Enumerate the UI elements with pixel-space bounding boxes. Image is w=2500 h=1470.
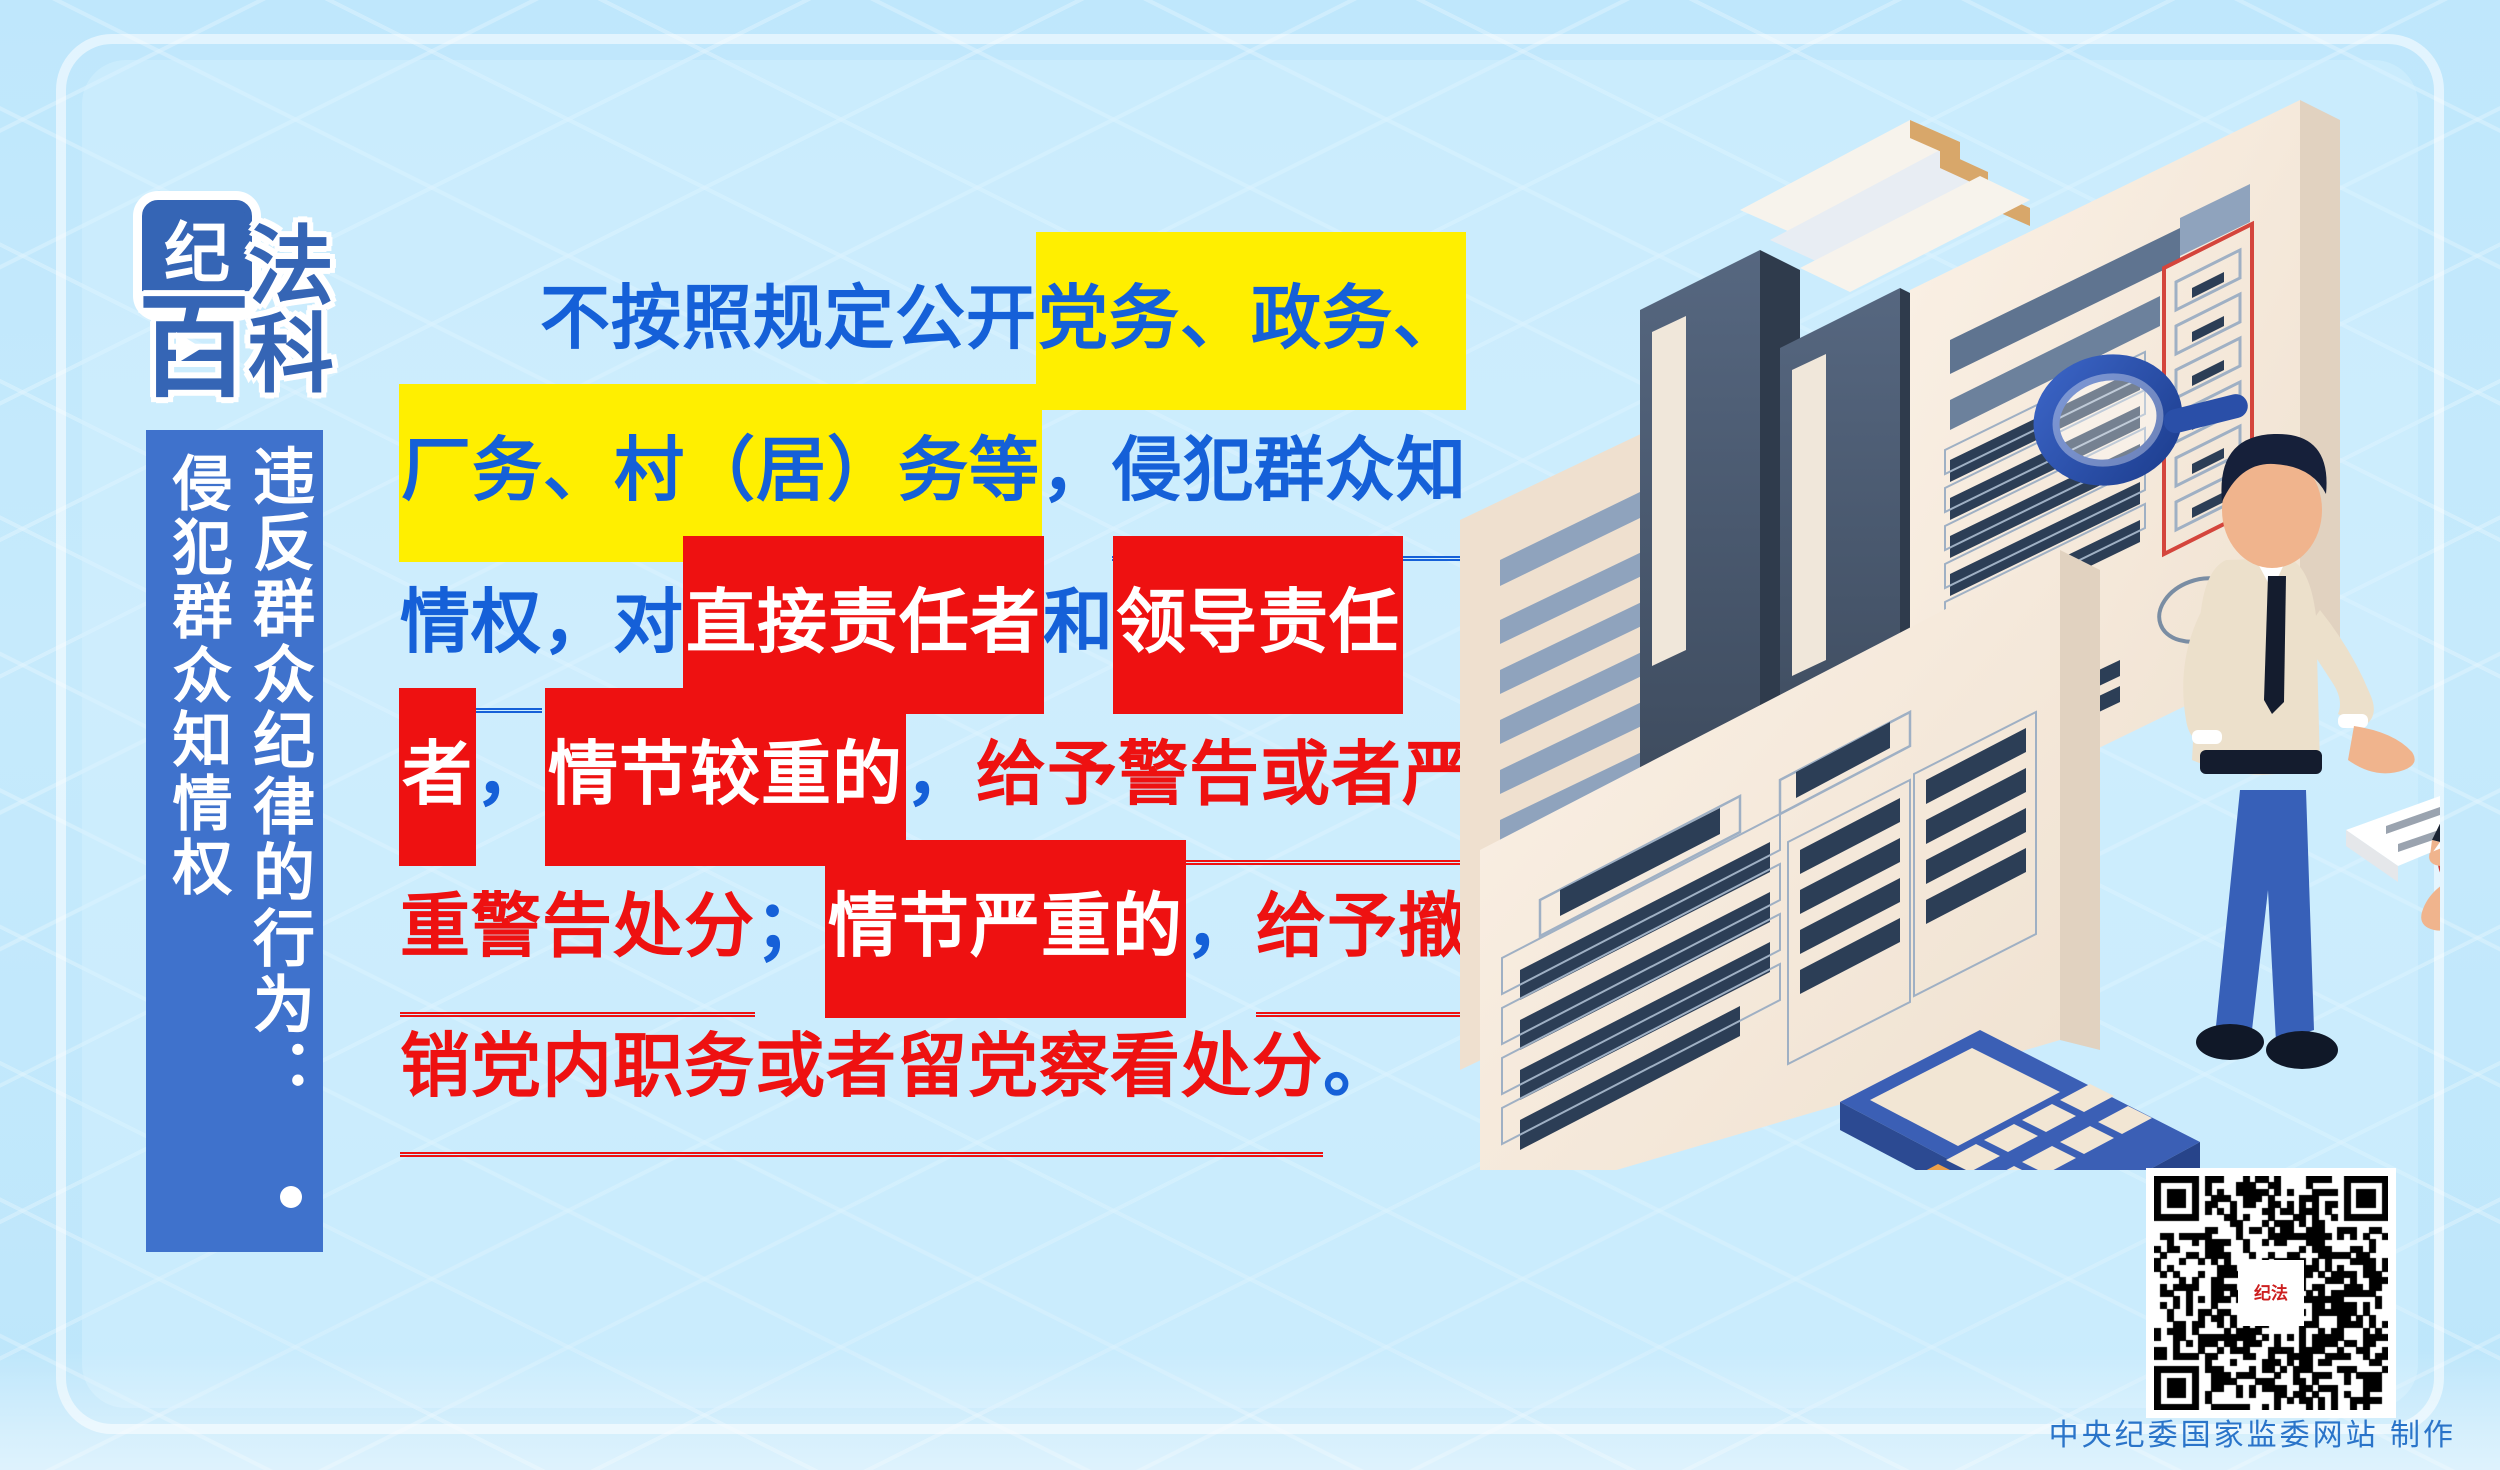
text-segment: 。 [1323,992,1394,1144]
logo-char-fa: 法 [248,224,334,310]
text-segment: ， [1041,396,1112,548]
play-triangle-icon [176,332,202,364]
isometric-illustration [1440,90,2440,1170]
text-line-3: 情权，对直接责任者和领导责任 [400,536,1470,688]
banner-dot-marker [280,1186,302,1208]
text-segment: ， [475,700,546,852]
vertical-title-banner: 违反群众纪律的行为： 侵犯群众知情权 [146,430,323,1252]
main-text-block: 不按照规定公开党务、政务、厂务、村（居）务等，侵犯群众知情权，对直接责任者和领导… [400,232,1470,1152]
banner-column-right: 违反群众纪律的行为： [237,444,317,1236]
banner-column-left: 侵犯群众知情权 [158,452,236,1012]
text-line-6: 销党内职务或者留党察看处分。 [400,992,1470,1144]
text-segment: 销党内职务或者留党察看处分 [400,992,1323,1157]
qr-center-logo: 纪法 [2238,1260,2304,1326]
qr-code[interactable]: 纪法 [2146,1168,2396,1418]
text-segment: 党务、政务、 [1036,232,1466,410]
text-line-1: 不按照规定公开党务、政务、 [400,232,1470,384]
brand-logo: 纪 百 法 科 [136,200,346,405]
text-segment: ， [1185,852,1256,1004]
text-segment: ，对 [542,548,684,700]
logo-char-ke: 科 [248,312,334,398]
text-segment: 者 [399,688,476,866]
text-line-4: 者，情节较重的，给予警告或者严 [400,688,1470,840]
text-segment: 和 [1043,548,1114,700]
text-segment: ； [755,852,826,1004]
credit-text: 中央纪委国家监委网站 制作 [2049,1410,2456,1454]
qr-center-logo-text: 纪法 [2254,1285,2288,1302]
text-segment: 领导责任 [1113,536,1403,714]
poster-root: 纪 百 法 科 违反群众纪律的行为： 侵犯群众知情权 不按照规定公开党务、政务、… [0,0,2500,1470]
text-line-5: 重警告处分；情节严重的，给予撤 [400,840,1470,992]
text-line-2: 厂务、村（居）务等，侵犯群众知 [400,384,1470,536]
text-segment: ， [905,700,976,852]
